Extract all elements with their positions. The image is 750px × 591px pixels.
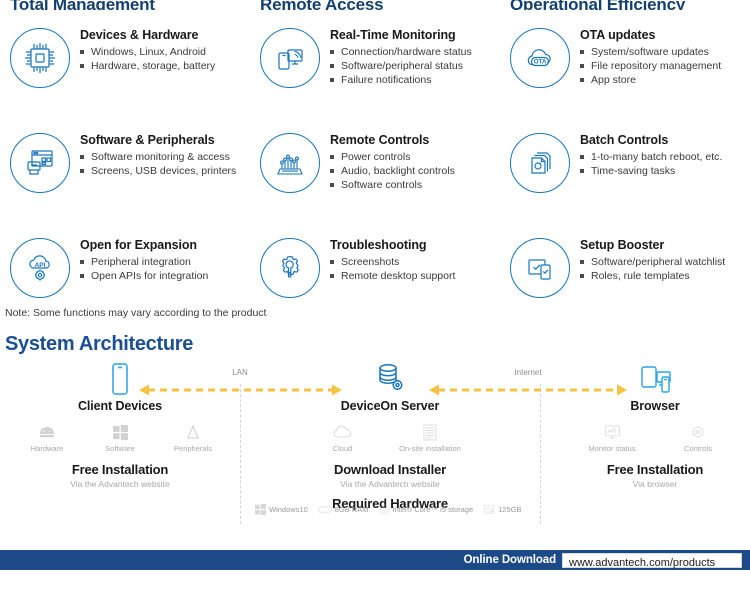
feature-title: Open for Expansion xyxy=(80,238,208,252)
feature-title: Batch Controls xyxy=(580,133,722,147)
footer-url[interactable]: www.advantech.com/products xyxy=(562,553,742,568)
checklist-devices-icon xyxy=(510,238,570,298)
bullet: Connection/hardware status xyxy=(330,45,472,59)
feature-grid: Total Management Devices & Hardware xyxy=(0,0,750,300)
peripherals-icon xyxy=(157,422,230,442)
bullet: Remote desktop support xyxy=(330,269,455,283)
feature-title: Devices & Hardware xyxy=(80,28,215,42)
feature-text: Setup Booster Software/peripheral watchl… xyxy=(580,230,725,283)
install-title: Download Installer xyxy=(280,462,500,477)
bullet: Windows, Linux, Android xyxy=(80,45,215,59)
bullet: Time-saving tasks xyxy=(580,164,722,178)
feature-title: Real-Time Monitoring xyxy=(330,28,472,42)
monitor-status-icon xyxy=(569,422,655,442)
server-database-icon xyxy=(280,362,500,396)
install-subtitle: Via the Advantech website xyxy=(280,479,500,489)
feature-bullets: Screenshots Remote desktop support xyxy=(330,255,455,283)
bullet: 1-to-many batch reboot, etc. xyxy=(580,150,722,164)
bullet: Software/peripheral status xyxy=(330,59,472,73)
feature-bullets: Power controls Audio, backlight controls… xyxy=(330,150,455,192)
feature-bullets: Connection/hardware status Software/peri… xyxy=(330,45,472,87)
sub-item: Monitor status xyxy=(569,422,655,453)
feature-column-operational-efficiency: Operational Efficiency OTA OTA updates S… xyxy=(500,0,750,300)
hardware-item: 8GB RAM xyxy=(318,505,369,514)
system-architecture-title: System Architecture xyxy=(5,333,193,356)
column-heading: Total Management xyxy=(10,0,250,10)
sub-item: Cloud xyxy=(303,422,383,453)
footer-content: Online Download www.advantech.com/produc… xyxy=(464,550,742,570)
column-heading: Remote Access xyxy=(260,0,500,10)
circuit-controls-icon xyxy=(260,133,320,193)
install-title: Free Installation xyxy=(10,462,230,477)
feature-text: Open for Expansion Peripheral integratio… xyxy=(80,230,208,283)
sub-item: Peripherals xyxy=(157,422,230,453)
browser-devices-icon xyxy=(560,362,750,396)
hardware-item: Windows10 xyxy=(255,504,308,515)
batch-stack-icon xyxy=(510,133,570,193)
required-hardware-row: Windows10 8GB RAM xyxy=(255,504,521,515)
feature-item: OTA OTA updates System/software updates … xyxy=(508,20,750,115)
node-sub-items: Monitor status Controls xyxy=(560,422,750,453)
tablet-icon xyxy=(10,362,230,396)
feature-text: Devices & Hardware Windows, Linux, Andro… xyxy=(80,20,215,73)
install-subtitle: Via browser xyxy=(560,479,750,489)
hardware-text: 8GB RAM xyxy=(335,505,369,514)
feature-text: Batch Controls 1-to-many batch reboot, e… xyxy=(580,125,722,178)
bullet: App store xyxy=(580,73,721,87)
feature-title: Setup Booster xyxy=(580,238,725,252)
feature-title: OTA updates xyxy=(580,28,721,42)
feature-item: Real-Time Monitoring Connection/hardware… xyxy=(258,20,500,115)
sub-caption: Peripherals xyxy=(157,444,230,453)
feature-item: Setup Booster Software/peripheral watchl… xyxy=(508,230,750,325)
bullet: System/software updates xyxy=(580,45,721,59)
software-peripherals-icon xyxy=(10,133,70,193)
gear-wrench-icon xyxy=(260,238,320,298)
hardware-text: Windows10 xyxy=(269,505,308,514)
feature-text: Remote Controls Power controls Audio, ba… xyxy=(330,125,455,192)
sub-item: Controls xyxy=(655,422,741,453)
arch-node-client-devices: Client Devices Hardware xyxy=(10,362,230,489)
ram-icon xyxy=(318,505,332,514)
feature-bullets: Software monitoring & access Screens, US… xyxy=(80,150,236,178)
node-label: Browser xyxy=(560,399,750,413)
sub-caption: Controls xyxy=(655,444,741,453)
feature-column-remote-access: Remote Access Real-Time Monitoring Conne… xyxy=(250,0,500,300)
bullet: Screens, USB devices, printers xyxy=(80,164,236,178)
api-cloud-gear-icon: API xyxy=(10,238,70,298)
node-sub-items: Hardware Software xyxy=(10,422,230,453)
feature-title: Remote Controls xyxy=(330,133,455,147)
feature-bullets: Peripheral integration Open APIs for int… xyxy=(80,255,208,283)
architecture-diagram: LAN Internet Clie xyxy=(0,362,750,537)
footer-label: Online Download xyxy=(464,554,556,566)
bullet: Power controls xyxy=(330,150,455,164)
feature-item: Remote Controls Power controls Audio, ba… xyxy=(258,125,500,220)
feature-item: Troubleshooting Screenshots Remote deskt… xyxy=(258,230,500,325)
feature-text: Troubleshooting Screenshots Remote deskt… xyxy=(330,230,455,283)
bullet: Software controls xyxy=(330,178,455,192)
svg-text:API: API xyxy=(35,262,46,269)
sub-item: Hardware xyxy=(11,422,84,453)
onsite-server-icon xyxy=(383,422,478,442)
column-heading: Operational Efficiency xyxy=(510,0,750,10)
feature-text: Real-Time Monitoring Connection/hardware… xyxy=(330,20,472,87)
chip-icon xyxy=(10,28,70,88)
feature-column-total-management: Total Management Devices & Hardware xyxy=(0,0,250,300)
bullet: Hardware, storage, battery xyxy=(80,59,215,73)
install-title: Free Installation xyxy=(560,462,750,477)
bullet: Failure notifications xyxy=(330,73,472,87)
arch-node-browser: Browser Monitor status xyxy=(560,362,750,489)
sub-caption: Cloud xyxy=(303,444,383,453)
poster-page: Total Management Devices & Hardware xyxy=(0,0,750,591)
node-label: Client Devices xyxy=(10,399,230,413)
feature-title: Troubleshooting xyxy=(330,238,455,252)
bullet: Software/peripheral watchlist xyxy=(580,255,725,269)
bullet: Audio, backlight controls xyxy=(330,164,455,178)
android-icon xyxy=(11,422,84,442)
bullet: File repository management xyxy=(580,59,721,73)
install-subtitle: Via the Advantech website xyxy=(10,479,230,489)
hardware-item: 125GB xyxy=(483,504,521,515)
sub-item: On-site installation xyxy=(383,422,478,453)
controls-gear-icon xyxy=(655,422,741,442)
feature-item: Batch Controls 1-to-many batch reboot, e… xyxy=(508,125,750,220)
hardware-text: Intel® Core™ i5 storage xyxy=(393,505,474,514)
sub-caption: Hardware xyxy=(11,444,84,453)
sub-item: Software xyxy=(84,422,157,453)
hardware-item: Intel® Core™ i5 storage xyxy=(379,504,474,515)
node-sub-items: Cloud On-site installation xyxy=(280,422,500,453)
disclaimer-note: Note: Some functions may vary according … xyxy=(5,307,266,319)
feature-bullets: 1-to-many batch reboot, etc. Time-saving… xyxy=(580,150,722,178)
feature-bullets: System/software updates File repository … xyxy=(580,45,721,87)
divider-right xyxy=(540,384,541,524)
bullet: Open APIs for integration xyxy=(80,269,208,283)
storage-icon xyxy=(483,504,495,515)
feature-text: Software & Peripherals Software monitori… xyxy=(80,125,236,178)
bullet: Software monitoring & access xyxy=(80,150,236,164)
feature-bullets: Windows, Linux, Android Hardware, storag… xyxy=(80,45,215,73)
sub-caption: Monitor status xyxy=(569,444,655,453)
arch-node-deviceon-server: DeviceOn Server Cloud xyxy=(280,362,500,511)
feature-bullets: Software/peripheral watchlist Roles, rul… xyxy=(580,255,725,283)
realtime-monitor-icon xyxy=(260,28,320,88)
feature-item: Software & Peripherals Software monitori… xyxy=(8,125,250,220)
bullet: Roles, rule templates xyxy=(580,269,725,283)
bullet: Peripheral integration xyxy=(80,255,208,269)
svg-text:OTA: OTA xyxy=(534,59,547,66)
hardware-text: 125GB xyxy=(498,505,521,514)
footer-bar: Online Download www.advantech.com/produc… xyxy=(0,550,750,570)
cpu-icon xyxy=(379,504,390,515)
windows-icon xyxy=(84,422,157,442)
sub-caption: Software xyxy=(84,444,157,453)
windows-icon xyxy=(255,504,266,515)
node-label: DeviceOn Server xyxy=(280,399,500,413)
divider-left xyxy=(240,384,241,524)
feature-text: OTA updates System/software updates File… xyxy=(580,20,721,87)
ota-cloud-icon: OTA xyxy=(510,28,570,88)
sub-caption: On-site installation xyxy=(383,444,478,453)
cloud-icon xyxy=(303,422,383,442)
feature-item: Devices & Hardware Windows, Linux, Andro… xyxy=(8,20,250,115)
feature-title: Software & Peripherals xyxy=(80,133,236,147)
bullet: Screenshots xyxy=(330,255,455,269)
